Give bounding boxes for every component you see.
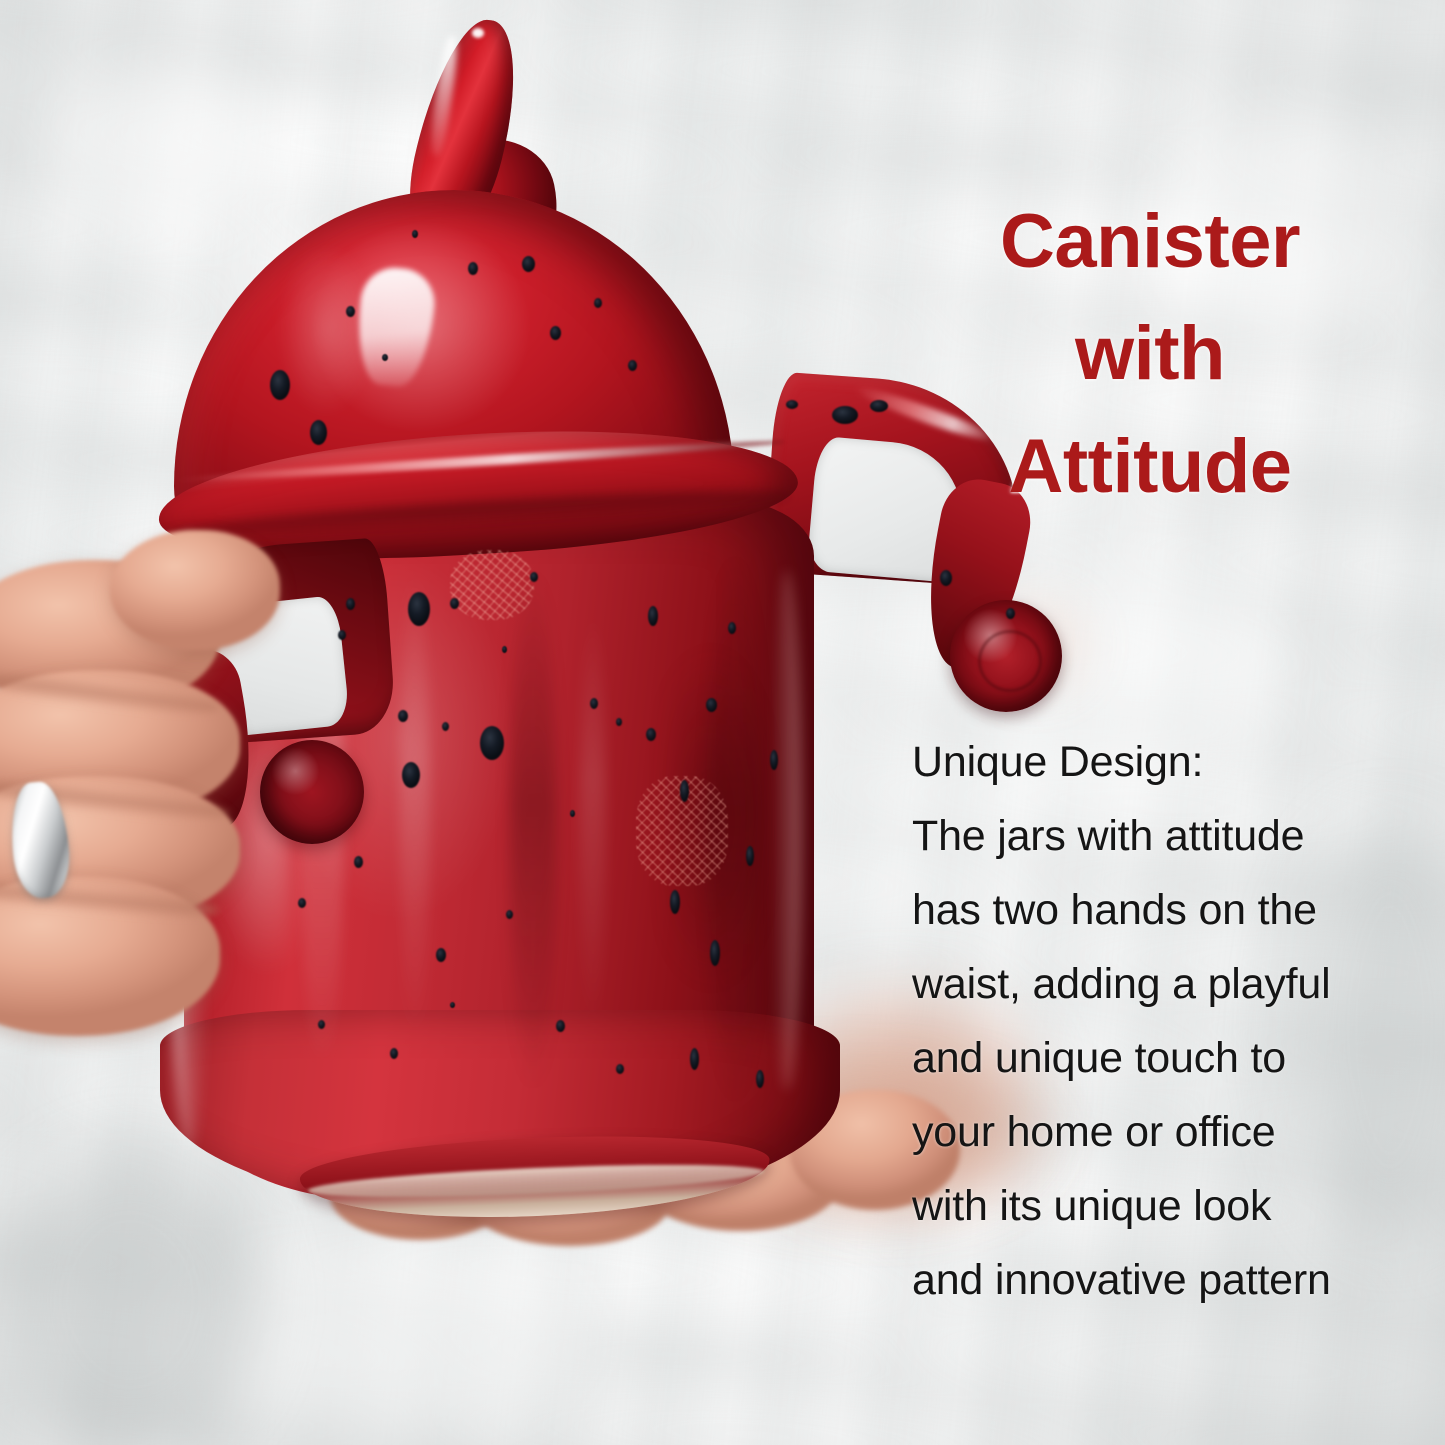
product-description: Unique Design: The jars with attitude ha… [912, 726, 1432, 1318]
description-line-8: and innovative pattern [912, 1244, 1432, 1318]
product-image-card: Canister with Attitude Unique Design: Th… [0, 0, 1445, 1445]
finial-specular-dot [472, 28, 484, 38]
glaze-crazing-patch [450, 550, 534, 620]
product-headline: Canister with Attitude [900, 186, 1400, 523]
description-line-2: The jars with attitude [912, 800, 1432, 874]
handle-right-spiral-ring [978, 630, 1042, 692]
description-line-3: has two hands on the [912, 874, 1432, 948]
headline-line-3: Attitude [900, 411, 1400, 523]
description-line-6: your home or office [912, 1096, 1432, 1170]
description-line-1: Unique Design: [912, 726, 1432, 800]
description-line-5: and unique touch to [912, 1022, 1432, 1096]
body-rim-light-right [772, 570, 802, 1090]
headline-line-1: Canister [900, 186, 1400, 298]
description-line-4: waist, adding a playful [912, 948, 1432, 1022]
holding-hand [0, 520, 420, 1080]
headline-line-2: with [900, 298, 1400, 410]
description-line-7: with its unique look [912, 1170, 1432, 1244]
